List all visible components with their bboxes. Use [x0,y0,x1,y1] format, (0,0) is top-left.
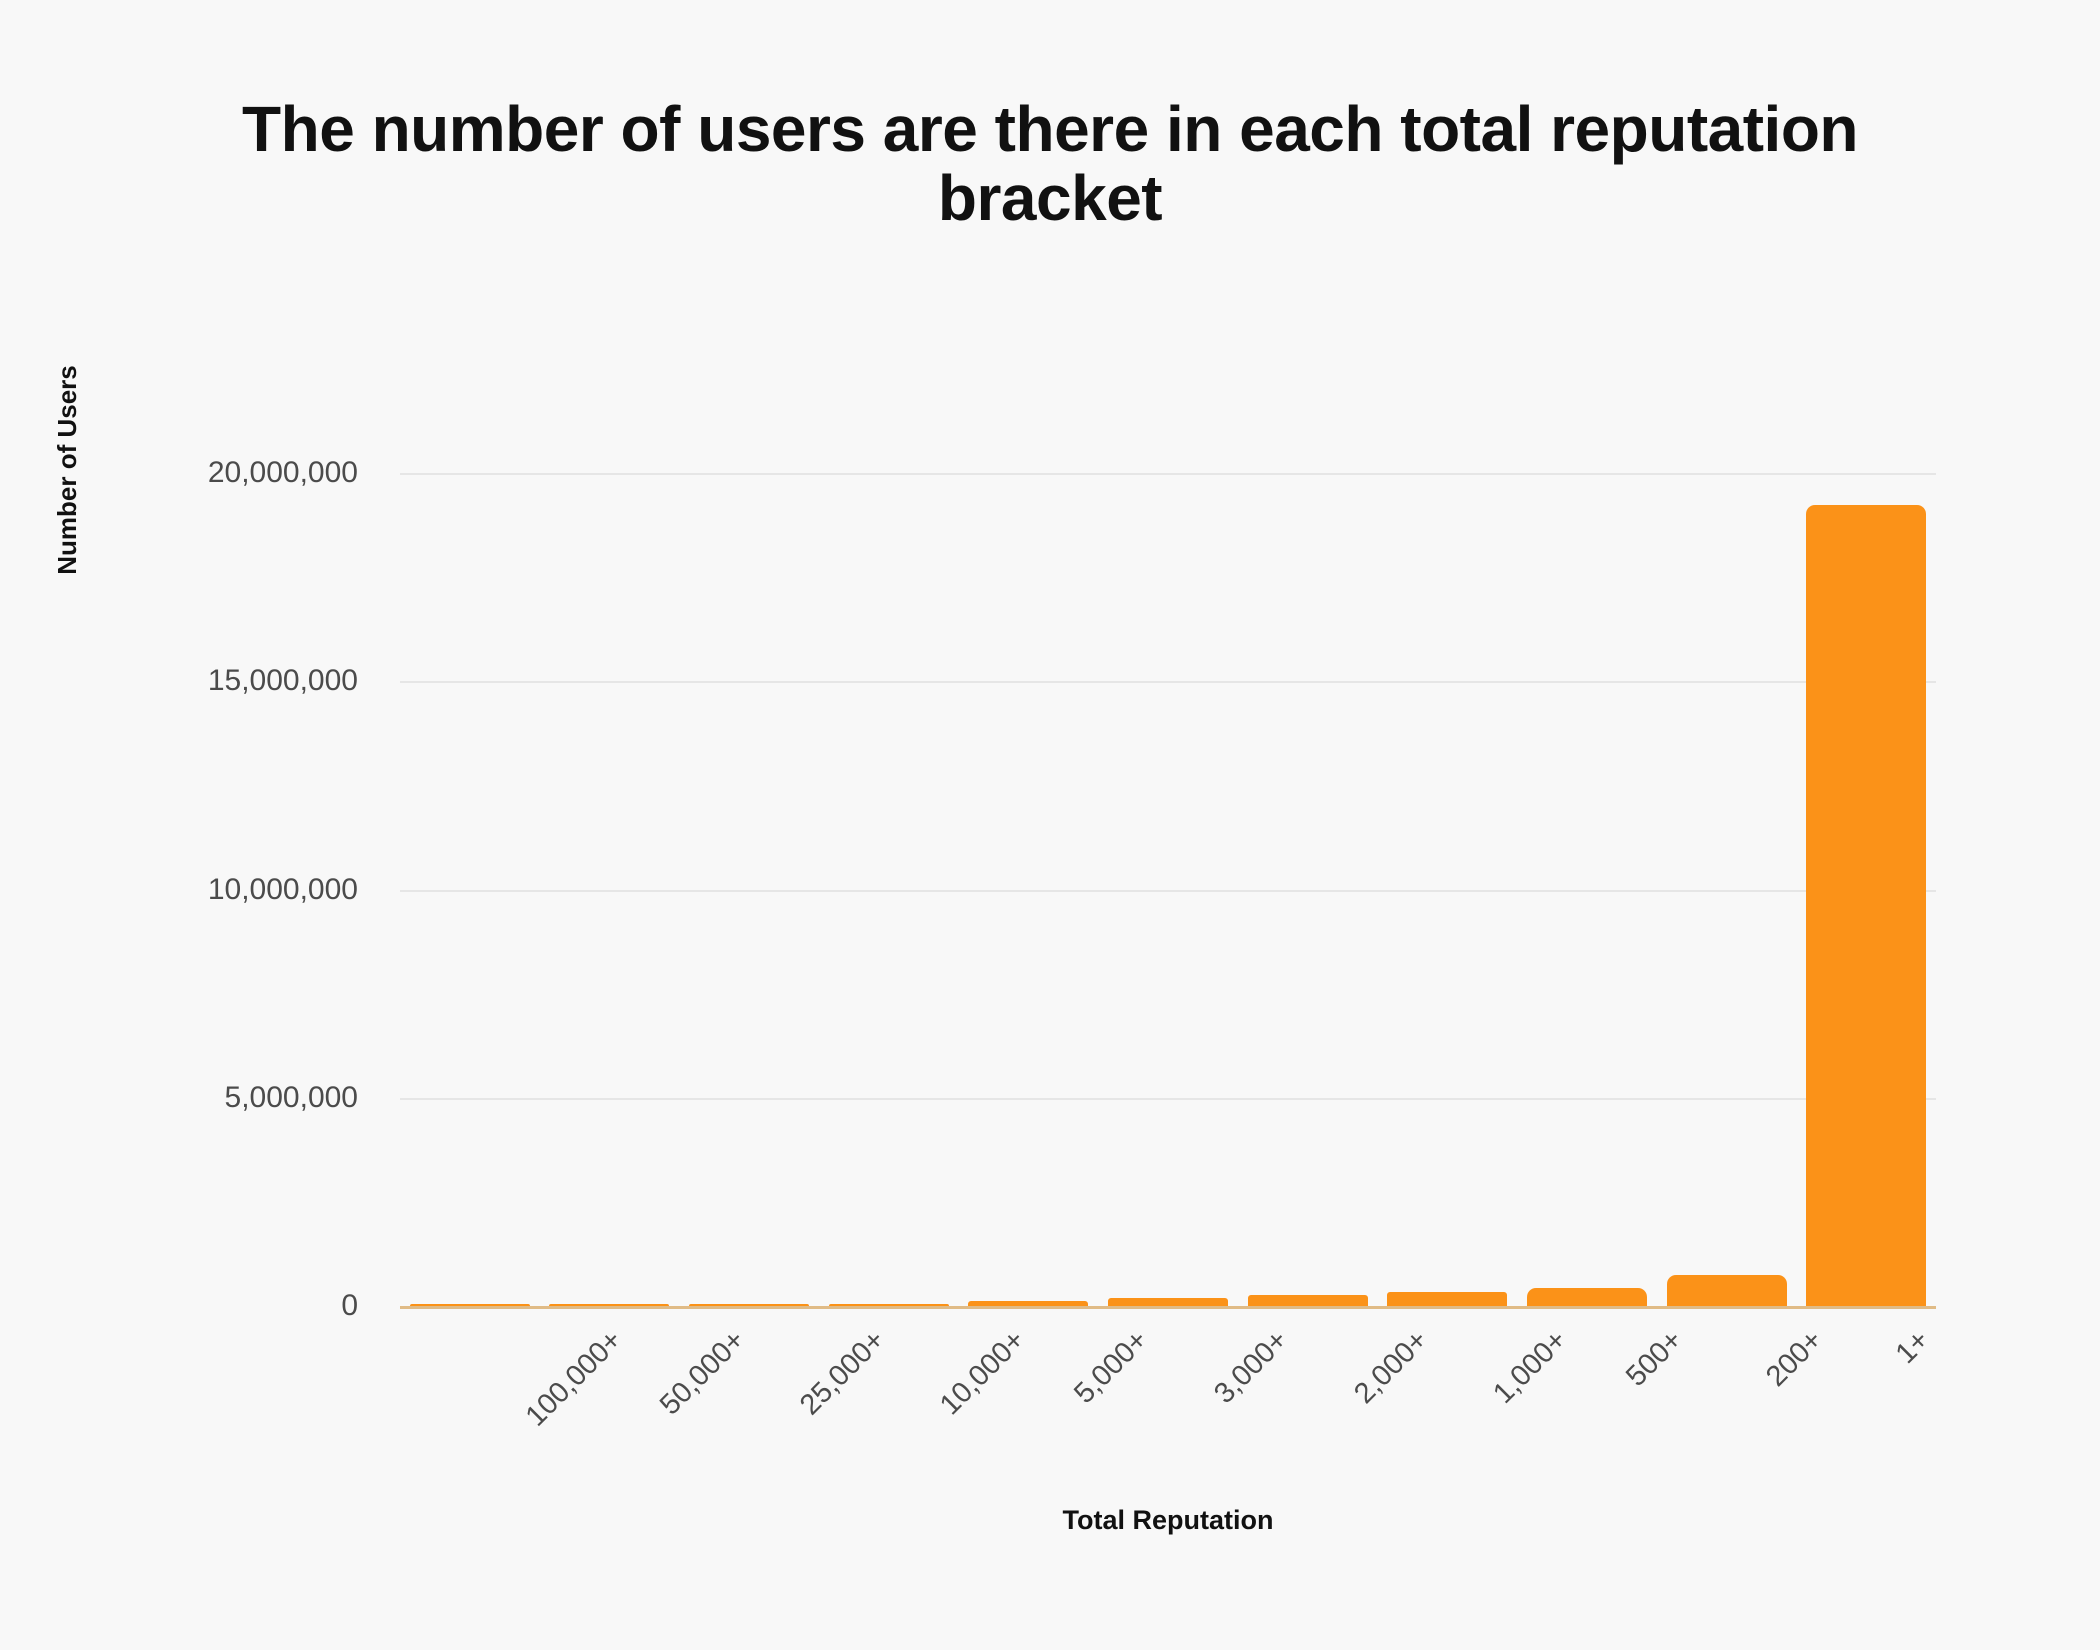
bar[interactable] [829,1304,949,1307]
bar-slot [829,440,949,1306]
bar[interactable] [1667,1275,1787,1306]
bar-slot [968,440,1088,1306]
bar-slot [1248,440,1368,1306]
bar[interactable] [549,1304,669,1307]
bar[interactable] [410,1304,530,1307]
x-tick-label: 5,000+ [1069,1324,1156,1411]
bar[interactable] [1248,1295,1368,1306]
chart-title: The number of users are there in each to… [150,95,1950,233]
y-tick-label: 10,000,000 [208,873,358,907]
y-tick-label: 5,000,000 [225,1081,358,1115]
bar[interactable] [1387,1292,1507,1306]
bar-slot [1108,440,1228,1306]
bar[interactable] [1806,505,1926,1306]
x-tick-label: 50,000+ [654,1324,752,1422]
x-tick-label: 2,000+ [1348,1324,1435,1411]
x-axis-tick-labels: 100,000+50,000+25,000+10,000+5,000+3,000… [400,1310,1936,1490]
axis-baseline [400,1306,1936,1309]
x-tick-label: 1+ [1890,1324,1937,1371]
bar-chart-figure: The number of users are there in each to… [0,0,2100,1650]
y-tick-label: 20,000,000 [208,456,358,490]
bar-slot [410,440,530,1306]
x-tick-label: 1,000+ [1487,1324,1574,1411]
bars-layer [400,440,1936,1306]
bar[interactable] [1108,1298,1228,1306]
bar-slot [1806,440,1926,1306]
x-tick-label: 10,000+ [934,1324,1032,1422]
bar-slot [1527,440,1647,1306]
bar[interactable] [1527,1288,1647,1306]
x-tick-label: 3,000+ [1208,1324,1295,1411]
bar-slot [689,440,809,1306]
y-tick-label: 0 [341,1289,358,1323]
bar-slot [1387,440,1507,1306]
x-tick-label: 500+ [1620,1324,1690,1394]
y-axis-tick-labels: 05,000,00010,000,00015,000,00020,000,000 [0,440,380,1320]
bar-slot [549,440,669,1306]
x-tick-label: 25,000+ [794,1324,892,1422]
x-tick-label: 200+ [1760,1324,1830,1394]
x-axis-title: Total Reputation [400,1505,1936,1536]
y-tick-label: 15,000,000 [208,664,358,698]
x-tick-label: 100,000+ [519,1324,628,1433]
bar-slot [1667,440,1787,1306]
bar[interactable] [968,1301,1088,1306]
bar[interactable] [689,1304,809,1307]
